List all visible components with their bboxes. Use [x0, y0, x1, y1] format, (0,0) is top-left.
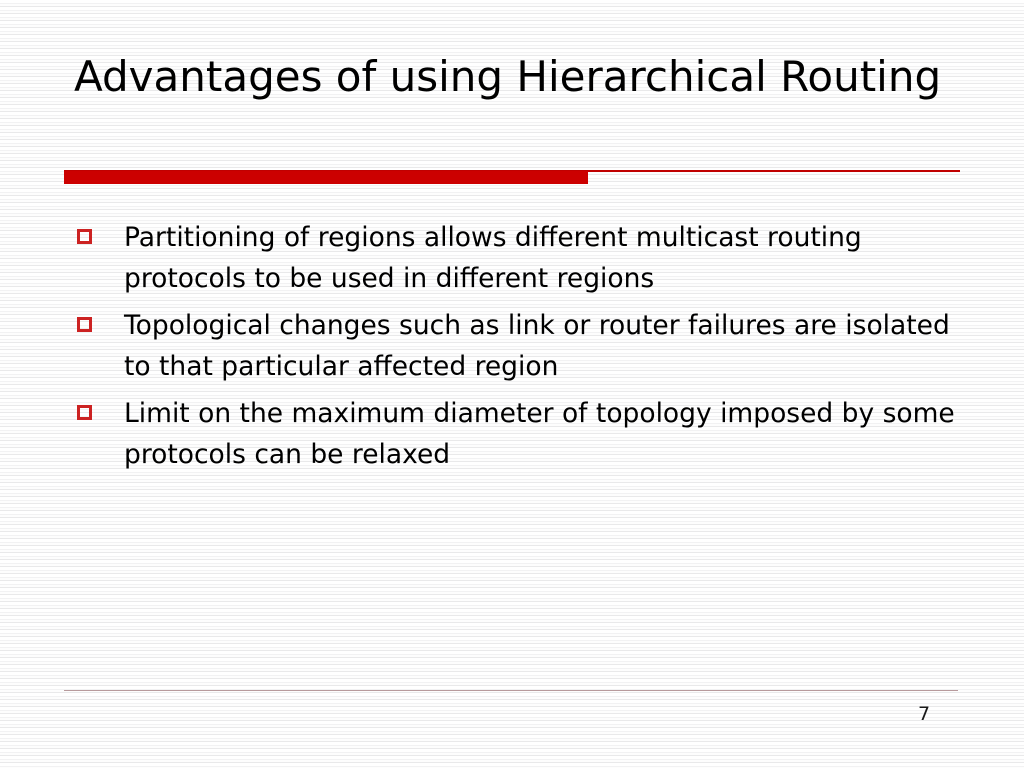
list-item-label: Partitioning of regions allows different… [124, 218, 974, 299]
list-item-label: Topological changes such as link or rout… [124, 306, 974, 387]
list-item-label: Limit on the maximum diameter of topolog… [124, 394, 974, 475]
title-divider-accent-bar [64, 171, 588, 184]
list-item: Limit on the maximum diameter of topolog… [74, 394, 974, 475]
hollow-square-bullet-icon [77, 229, 92, 244]
page-number: 7 [900, 702, 948, 726]
list-item: Topological changes such as link or rout… [74, 306, 974, 387]
slide-canvas: Advantages of using Hierarchical Routing… [0, 0, 1024, 768]
footer-rule [64, 690, 958, 691]
hollow-square-bullet-icon [77, 405, 92, 420]
title-divider [64, 170, 960, 184]
title-block: Advantages of using Hierarchical Routing [74, 52, 964, 101]
list-item: Partitioning of regions allows different… [74, 218, 974, 299]
page-title: Advantages of using Hierarchical Routing [74, 52, 964, 101]
hollow-square-bullet-icon [77, 317, 92, 332]
bullet-list: Partitioning of regions allows different… [74, 218, 974, 482]
